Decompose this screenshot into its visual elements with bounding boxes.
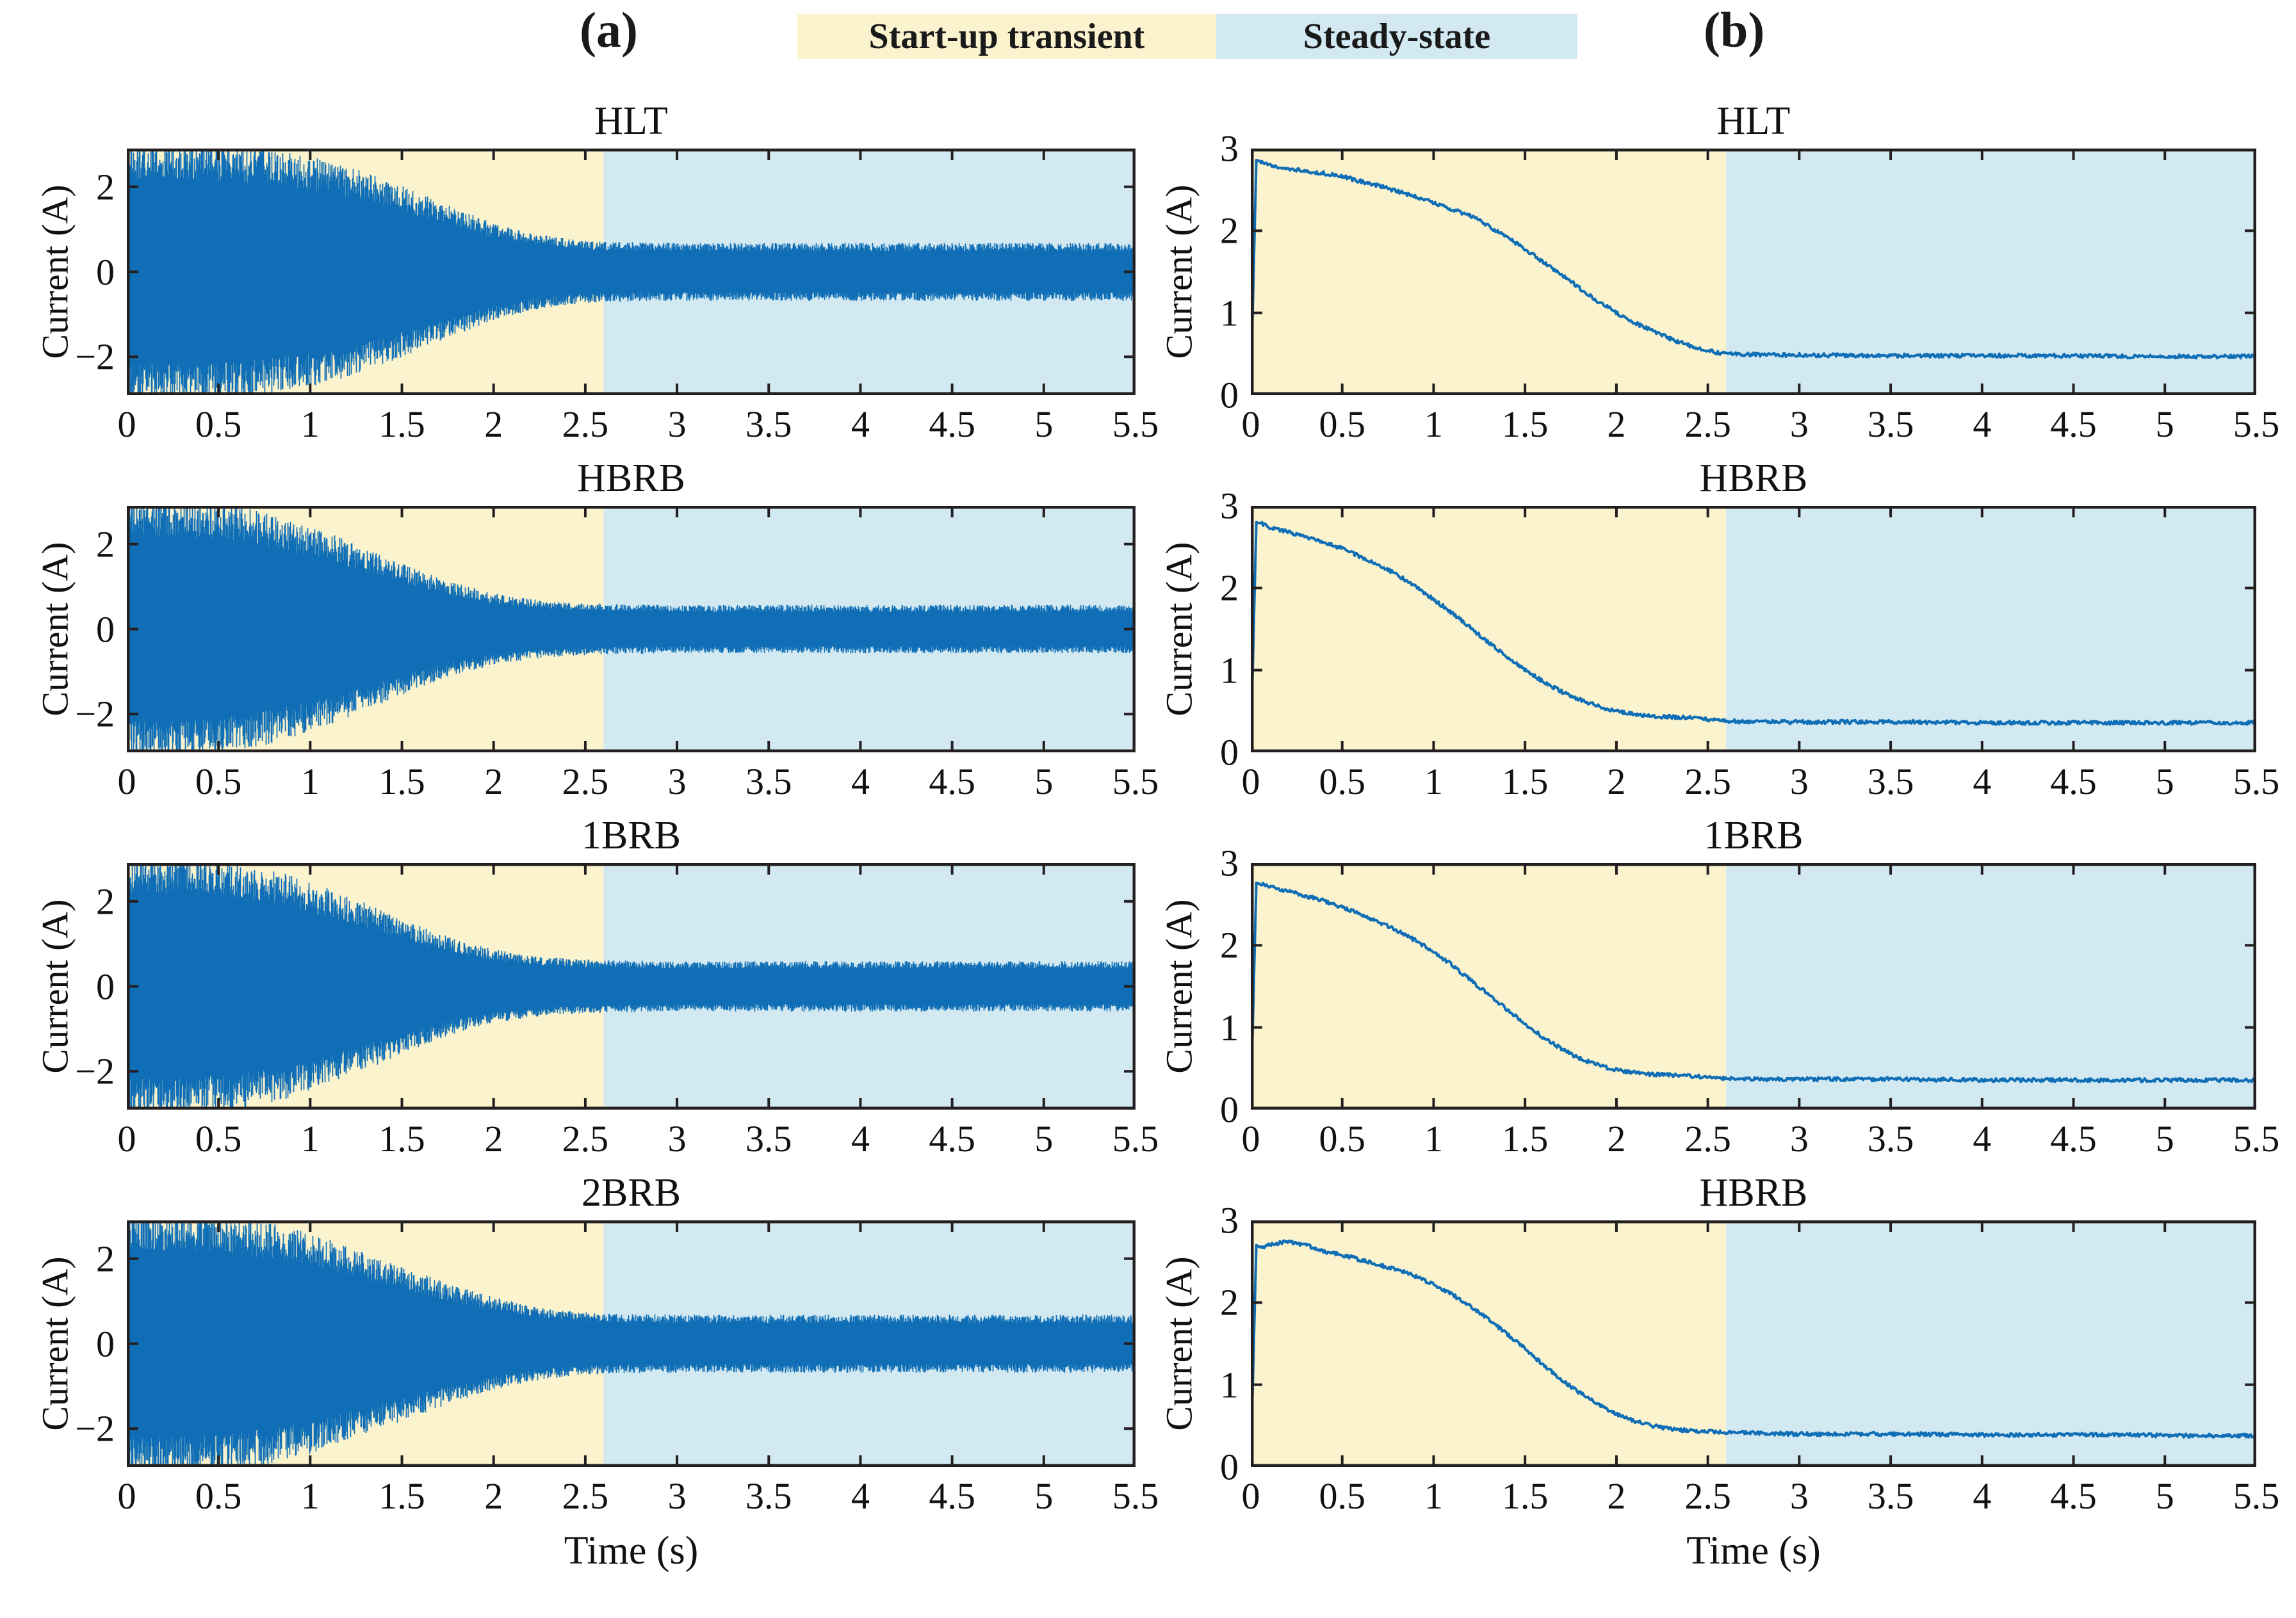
plot-b3: 1BRB00.511.522.533.544.555.50123Current …: [1251, 863, 2256, 1110]
legend: Start-up transient Steady-state: [797, 14, 1577, 59]
x-tick-label: 5: [2156, 760, 2174, 803]
x-tick-label: 1.5: [1502, 760, 1549, 803]
x-tick-label: 1.5: [379, 1117, 425, 1160]
x-tick-label: 5: [1034, 1117, 1053, 1160]
x-tick-label: 3: [1790, 1475, 1809, 1517]
x-tick-label: 5: [1034, 1475, 1053, 1517]
y-axis-label: Current (A): [1158, 1247, 1201, 1439]
x-tick-label: 4: [851, 1475, 870, 1517]
x-tick-label: 5.5: [2233, 760, 2280, 803]
x-tick-label: 2.5: [562, 1475, 609, 1517]
y-tick-label: 0: [1184, 731, 1239, 774]
x-tick-label: 5.5: [1112, 1475, 1159, 1517]
x-tick-label: 0: [1242, 760, 1260, 803]
y-tick-label: 3: [1184, 1199, 1239, 1242]
x-tick-label: 4: [1973, 760, 1991, 803]
x-tick-label: 3: [1790, 1117, 1809, 1160]
y-tick-label: 3: [1184, 842, 1239, 885]
x-tick-label: 1: [1424, 760, 1443, 803]
x-tick-label: 1.5: [1502, 403, 1549, 446]
legend-item-steady-state: Steady-state: [1216, 14, 1577, 59]
y-axis-label: Current (A): [1158, 890, 1201, 1082]
x-tick-label: 1: [1424, 1475, 1443, 1517]
x-tick-label: 4.5: [929, 760, 975, 803]
y-axis-label: Current (A): [34, 533, 77, 725]
x-tick-label: 5.5: [2233, 1475, 2280, 1517]
x-tick-label: 2: [1607, 403, 1625, 446]
axes-b3: [1251, 863, 2256, 1110]
x-tick-label: 4: [851, 1117, 870, 1160]
axes-b2: [1251, 506, 2256, 752]
x-tick-label: 3: [668, 1475, 687, 1517]
plot-title-b2: HBRB: [1251, 458, 2256, 498]
x-tick-label: 0: [1242, 403, 1260, 446]
y-tick-label: 0: [1184, 1088, 1239, 1131]
x-tick-label: 3.5: [745, 1117, 792, 1160]
figure-root: (a) (b) Start-up transient Steady-state …: [0, 0, 2296, 1618]
x-tick-label: 1: [1424, 403, 1443, 446]
x-tick-label: 4.5: [2050, 1117, 2097, 1160]
x-tick-label: 0.5: [1319, 1117, 1365, 1160]
x-tick-label: 4: [851, 760, 870, 803]
region-startup-transient: [1251, 1220, 1726, 1467]
y-axis-label: Current (A): [34, 1247, 77, 1439]
x-tick-label: 0: [1242, 1475, 1260, 1517]
x-tick-label: 3.5: [1868, 403, 1914, 446]
x-tick-label: 2: [484, 403, 503, 446]
x-tick-label: 0.5: [195, 1475, 242, 1517]
plot-a4: 2BRB00.511.522.533.544.555.5−202Current …: [127, 1220, 1136, 1467]
x-tick-label: 1: [301, 403, 320, 446]
x-tick-label: 0: [118, 403, 136, 446]
x-tick-label: 2.5: [1684, 1117, 1731, 1160]
x-tick-label: 5: [2156, 1475, 2174, 1517]
x-tick-label: 0.5: [195, 760, 242, 803]
x-tick-label: 3: [1790, 760, 1809, 803]
x-tick-label: 1.5: [1502, 1475, 1549, 1517]
x-tick-label: 3: [1790, 403, 1809, 446]
x-tick-label: 2: [1607, 1475, 1625, 1517]
x-tick-label: 0.5: [195, 403, 242, 446]
x-tick-label: 1.5: [379, 403, 425, 446]
x-tick-label: 3.5: [1868, 1475, 1914, 1517]
y-axis-label: Current (A): [1158, 175, 1201, 368]
x-tick-label: 3: [668, 760, 687, 803]
x-axis-label: Time (s): [564, 1528, 699, 1574]
y-tick-label: 3: [1184, 485, 1239, 528]
x-tick-label: 2.5: [562, 1117, 609, 1160]
x-axis-label: Time (s): [1686, 1528, 1821, 1574]
x-tick-label: 1: [301, 1117, 320, 1160]
x-tick-label: 2: [1607, 760, 1625, 803]
x-tick-label: 3.5: [745, 760, 792, 803]
plot-title-a4: 2BRB: [127, 1173, 1136, 1213]
x-tick-label: 1: [301, 1475, 320, 1517]
x-tick-label: 5: [1034, 760, 1053, 803]
x-tick-label: 5.5: [2233, 1117, 2280, 1160]
x-tick-label: 0.5: [1319, 1475, 1365, 1517]
x-tick-label: 3.5: [1868, 760, 1914, 803]
x-tick-label: 4.5: [929, 1117, 975, 1160]
x-tick-label: 4: [851, 403, 870, 446]
region-steady-state: [1726, 506, 2256, 752]
x-tick-label: 5.5: [1112, 403, 1159, 446]
x-tick-label: 2.5: [1684, 1475, 1731, 1517]
plot-title-b3: 1BRB: [1251, 816, 2256, 855]
plot-title-b4: HBRB: [1251, 1173, 2256, 1213]
legend-item-startup-transient: Start-up transient: [797, 14, 1216, 59]
x-tick-label: 0.5: [1319, 760, 1365, 803]
x-tick-label: 2: [1607, 1117, 1625, 1160]
plot-title-a1: HLT: [127, 101, 1136, 141]
x-tick-label: 0: [118, 1117, 136, 1160]
x-tick-label: 1: [301, 760, 320, 803]
x-tick-label: 0: [1242, 1117, 1260, 1160]
x-tick-label: 5.5: [2233, 403, 2280, 446]
x-tick-label: 4: [1973, 403, 1991, 446]
x-tick-label: 1.5: [379, 760, 425, 803]
x-tick-label: 3: [668, 403, 687, 446]
y-axis-label: Current (A): [34, 890, 77, 1082]
region-steady-state: [1726, 1220, 2256, 1467]
x-tick-label: 2.5: [1684, 760, 1731, 803]
x-tick-label: 3.5: [745, 403, 792, 446]
x-tick-label: 3: [668, 1117, 687, 1160]
plot-title-a2: HBRB: [127, 458, 1136, 498]
x-tick-label: 3.5: [745, 1475, 792, 1517]
axes-b1: [1251, 149, 2256, 395]
y-tick-label: 3: [1184, 127, 1239, 170]
x-tick-label: 0.5: [1319, 403, 1365, 446]
plot-a3: 1BRB00.511.522.533.544.555.5−202Current …: [127, 863, 1136, 1110]
x-tick-label: 4.5: [2050, 1475, 2097, 1517]
x-tick-label: 2.5: [562, 403, 609, 446]
axes-a4: [127, 1220, 1136, 1467]
axes-b4: [1251, 1220, 2256, 1467]
x-tick-label: 2: [484, 760, 503, 803]
x-tick-label: 2.5: [1684, 403, 1731, 446]
panel-label-a: (a): [580, 5, 638, 55]
panel-label-b: (b): [1704, 5, 1764, 55]
x-tick-label: 5: [1034, 403, 1053, 446]
y-tick-label: 0: [1184, 1446, 1239, 1489]
x-tick-label: 2.5: [562, 760, 609, 803]
x-tick-label: 5: [2156, 403, 2174, 446]
x-tick-label: 5.5: [1112, 1117, 1159, 1160]
x-tick-label: 0.5: [195, 1117, 242, 1160]
x-tick-label: 4.5: [929, 1475, 975, 1517]
plot-a2: HBRB00.511.522.533.544.555.5−202Current …: [127, 506, 1136, 752]
y-axis-label: Current (A): [1158, 533, 1201, 725]
region-steady-state: [1726, 863, 2256, 1110]
x-tick-label: 5: [2156, 1117, 2174, 1160]
x-tick-label: 2: [484, 1117, 503, 1160]
x-tick-label: 4: [1973, 1117, 1991, 1160]
x-tick-label: 5.5: [1112, 760, 1159, 803]
x-tick-label: 1.5: [379, 1475, 425, 1517]
x-tick-label: 1.5: [1502, 1117, 1549, 1160]
x-tick-label: 4.5: [929, 403, 975, 446]
x-tick-label: 4.5: [2050, 403, 2097, 446]
y-axis-label: Current (A): [34, 175, 77, 368]
plot-b1: HLT00.511.522.533.544.555.50123Current (…: [1251, 149, 2256, 395]
region-startup-transient: [1251, 149, 1726, 395]
plot-a1: HLT00.511.522.533.544.555.5−202Current (…: [127, 149, 1136, 395]
plot-title-b1: HLT: [1251, 101, 2256, 141]
x-tick-label: 4: [1973, 1475, 1991, 1517]
x-tick-label: 0: [118, 1475, 136, 1517]
plot-b4: HBRB00.511.522.533.544.555.50123Current …: [1251, 1220, 2256, 1467]
x-tick-label: 0: [118, 760, 136, 803]
x-tick-label: 2: [484, 1475, 503, 1517]
x-tick-label: 3.5: [1868, 1117, 1914, 1160]
plot-title-a3: 1BRB: [127, 816, 1136, 855]
y-tick-label: 0: [1184, 374, 1239, 417]
x-tick-label: 1: [1424, 1117, 1443, 1160]
x-tick-label: 4.5: [2050, 760, 2097, 803]
axes-a1: [127, 149, 1136, 395]
plot-b2: HBRB00.511.522.533.544.555.50123Current …: [1251, 506, 2256, 752]
axes-a2: [127, 506, 1136, 752]
axes-a3: [127, 863, 1136, 1110]
